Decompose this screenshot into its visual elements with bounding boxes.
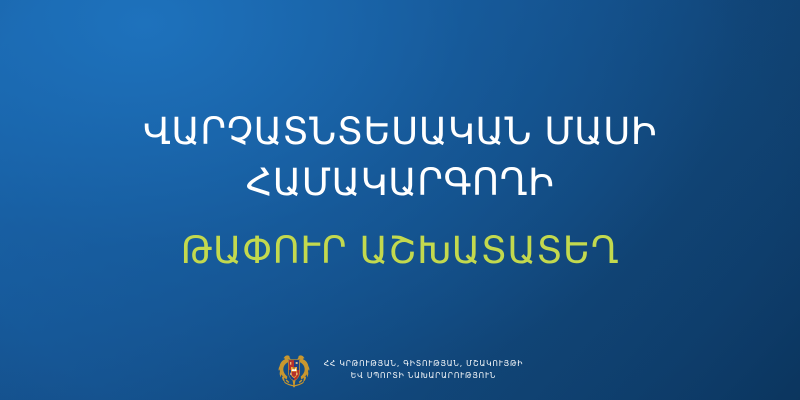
headline-line-3-accent: ԹԱՓՈՒՐ ԱՇԽԱՏԱՏԵՂ	[40, 225, 760, 276]
ministry-footer: ՀՀ ԿՐԹՈՒԹՅԱՆ, ԳԻՏՈՒԹՅԱՆ, ՄՇԱԿՈՒՅԹԻ ԵՎ ՍՊ…	[0, 346, 800, 394]
ministry-name-line-1: ՀՀ ԿՐԹՈՒԹՅԱՆ, ԳԻՏՈՒԹՅԱՆ, ՄՇԱԿՈՒՅԹԻ	[324, 359, 524, 369]
ministry-name-block: ՀՀ ԿՐԹՈՒԹՅԱՆ, ԳԻՏՈՒԹՅԱՆ, ՄՇԱԿՈՒՅԹԻ ԵՎ ՍՊ…	[324, 359, 524, 381]
headline-line-1: ՎԱՐՉԱՏՆՏԵՍԱԿԱՆ ՄԱՍԻ	[40, 106, 760, 157]
headline-block: ՎԱՐՉԱՏՆՏԵՍԱԿԱՆ ՄԱՍԻ ՀԱՄԱԿԱՐԳՈՂԻ ԹԱՓՈՒՐ Ա…	[0, 106, 800, 276]
vacancy-announcement-poster: ՎԱՐՉԱՏՆՏԵՍԱԿԱՆ ՄԱՍԻ ՀԱՄԱԿԱՐԳՈՂԻ ԹԱՓՈՒՐ Ա…	[0, 0, 800, 400]
ministry-name-line-2: ԵՎ ՍՊՈՐՏԻ ՆԱԽԱՐԱՐՈՒԹՅՈՒՆ	[351, 371, 496, 381]
headline-line-2: ՀԱՄԱԿԱՐԳՈՂԻ	[40, 157, 760, 208]
armenia-coat-of-arms-icon	[277, 352, 311, 388]
